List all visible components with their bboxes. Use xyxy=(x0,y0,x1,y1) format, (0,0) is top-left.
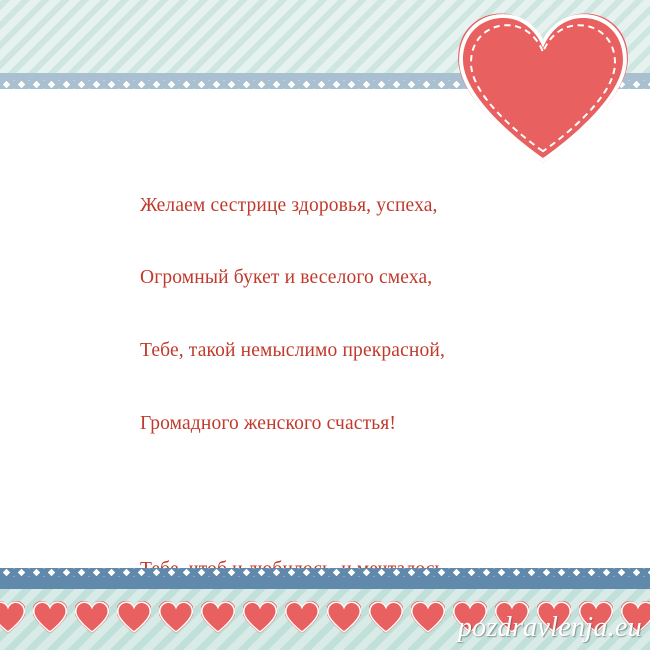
blue-bar-bottom xyxy=(0,575,650,589)
heart-fill xyxy=(463,18,623,158)
stanza-spacer xyxy=(140,485,540,509)
poem-line: Огромный букет и веселого смеха, xyxy=(140,266,540,290)
zigzag-divider-bottom xyxy=(0,568,650,577)
poem-line: Громадного женского счастья! xyxy=(140,412,540,436)
poem-line: Тебе, такой немыслимо прекрасной, xyxy=(140,339,540,363)
poem-line: Желаем сестрице здоровья, успеха, xyxy=(140,194,540,218)
site-watermark: pozdravlenja.eu xyxy=(458,612,642,644)
big-heart-icon xyxy=(455,8,631,164)
greeting-card: Желаем сестрице здоровья, успеха, Огромн… xyxy=(0,0,650,650)
